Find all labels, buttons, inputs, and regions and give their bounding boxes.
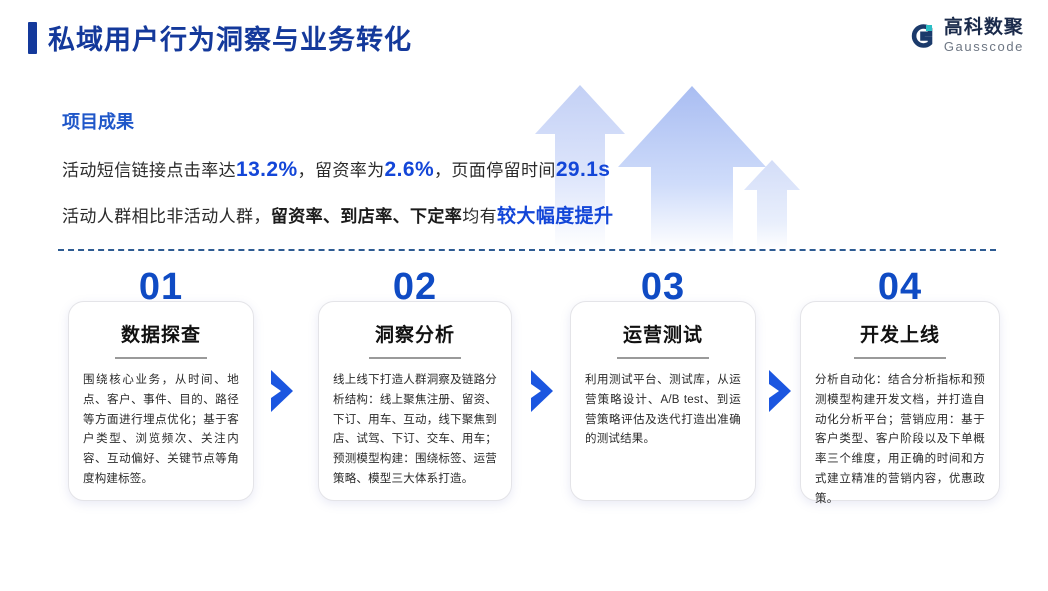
- slide-header: 私域用户行为洞察与业务转化 高科数聚 Gausscode: [0, 0, 1048, 72]
- results-line2-part2: 均有: [462, 207, 497, 226]
- step-card[interactable]: 数据探查 围绕核心业务，从时间、地点、客户、事件、目的、路径等方面进行埋点优化；…: [68, 301, 254, 501]
- arrow-up-icon-right: [744, 160, 800, 250]
- brand-logo: 高科数聚 Gausscode: [907, 18, 1024, 53]
- results-line1-part3: ，页面停留时间: [434, 161, 556, 180]
- logo-text-en: Gausscode: [944, 40, 1024, 53]
- step-card[interactable]: 运营测试 利用测试平台、测试库，从运营策略设计、A/B test、到运营策略评估…: [570, 301, 756, 501]
- results-line-2: 活动人群相比非活动人群，留资率、到店率、下定率均有较大幅度提升: [62, 201, 613, 228]
- section-divider: [58, 249, 996, 251]
- results-line1-part2: ，留资率为: [298, 161, 385, 180]
- step-title-rule: [617, 357, 709, 359]
- project-results-block: 项目成果 活动短信链接点击率达13.2%，留资率为2.6%，页面停留时间29.1…: [62, 108, 613, 247]
- step-title-rule: [369, 357, 461, 359]
- title-accent-bar: [28, 22, 37, 54]
- step-title: 洞察分析: [333, 320, 497, 347]
- step-body: 围绕核心业务，从时间、地点、客户、事件、目的、路径等方面进行埋点优化；基于客户类…: [83, 371, 239, 490]
- step-title: 运营测试: [585, 320, 741, 347]
- results-title: 项目成果: [62, 108, 613, 134]
- results-line2-highlight: 较大幅度提升: [497, 206, 613, 227]
- chevron-right-icon-1: [268, 368, 298, 414]
- results-line1-part1: 活动短信链接点击率达: [62, 161, 236, 180]
- results-line-1: 活动短信链接点击率达13.2%，留资率为2.6%，页面停留时间29.1s: [62, 156, 613, 182]
- step-title: 开发上线: [815, 320, 985, 347]
- metric-dwell-time: 29.1s: [556, 158, 611, 181]
- step-card[interactable]: 洞察分析 线上线下打造人群洞察及链路分析结构：线上聚焦注册、留资、下订、用车、互…: [318, 301, 512, 501]
- step-title-rule: [854, 357, 946, 359]
- logo-text-cn: 高科数聚: [944, 18, 1024, 37]
- process-steps: 01 数据探查 围绕核心业务，从时间、地点、客户、事件、目的、路径等方面进行埋点…: [0, 268, 1048, 518]
- chevron-right-icon-3: [766, 368, 796, 414]
- arrow-up-icon-center: [618, 86, 766, 250]
- step-body: 分析自动化：结合分析指标和预测模型构建开发文档，并打造自动化分析平台；营销应用：…: [815, 371, 985, 509]
- step-title-rule: [115, 357, 207, 359]
- step-body: 利用测试平台、测试库，从运营策略设计、A/B test、到运营策略评估及迭代打造…: [585, 371, 741, 450]
- step-body: 线上线下打造人群洞察及链路分析结构：线上聚焦注册、留资、下订、用车、互动，线下聚…: [333, 371, 497, 490]
- gausscode-logo-icon: [907, 21, 937, 51]
- page-title: 私域用户行为洞察与业务转化: [48, 18, 412, 57]
- metric-click-rate: 13.2%: [236, 158, 298, 181]
- chevron-right-icon-2: [528, 368, 558, 414]
- results-line2-part1: 活动人群相比非活动人群，: [62, 207, 271, 226]
- step-card[interactable]: 开发上线 分析自动化：结合分析指标和预测模型构建开发文档，并打造自动化分析平台；…: [800, 301, 1000, 501]
- step-title: 数据探查: [83, 320, 239, 347]
- results-line2-bold: 留资率、到店率、下定率: [271, 207, 462, 226]
- metric-lead-rate: 2.6%: [385, 158, 434, 181]
